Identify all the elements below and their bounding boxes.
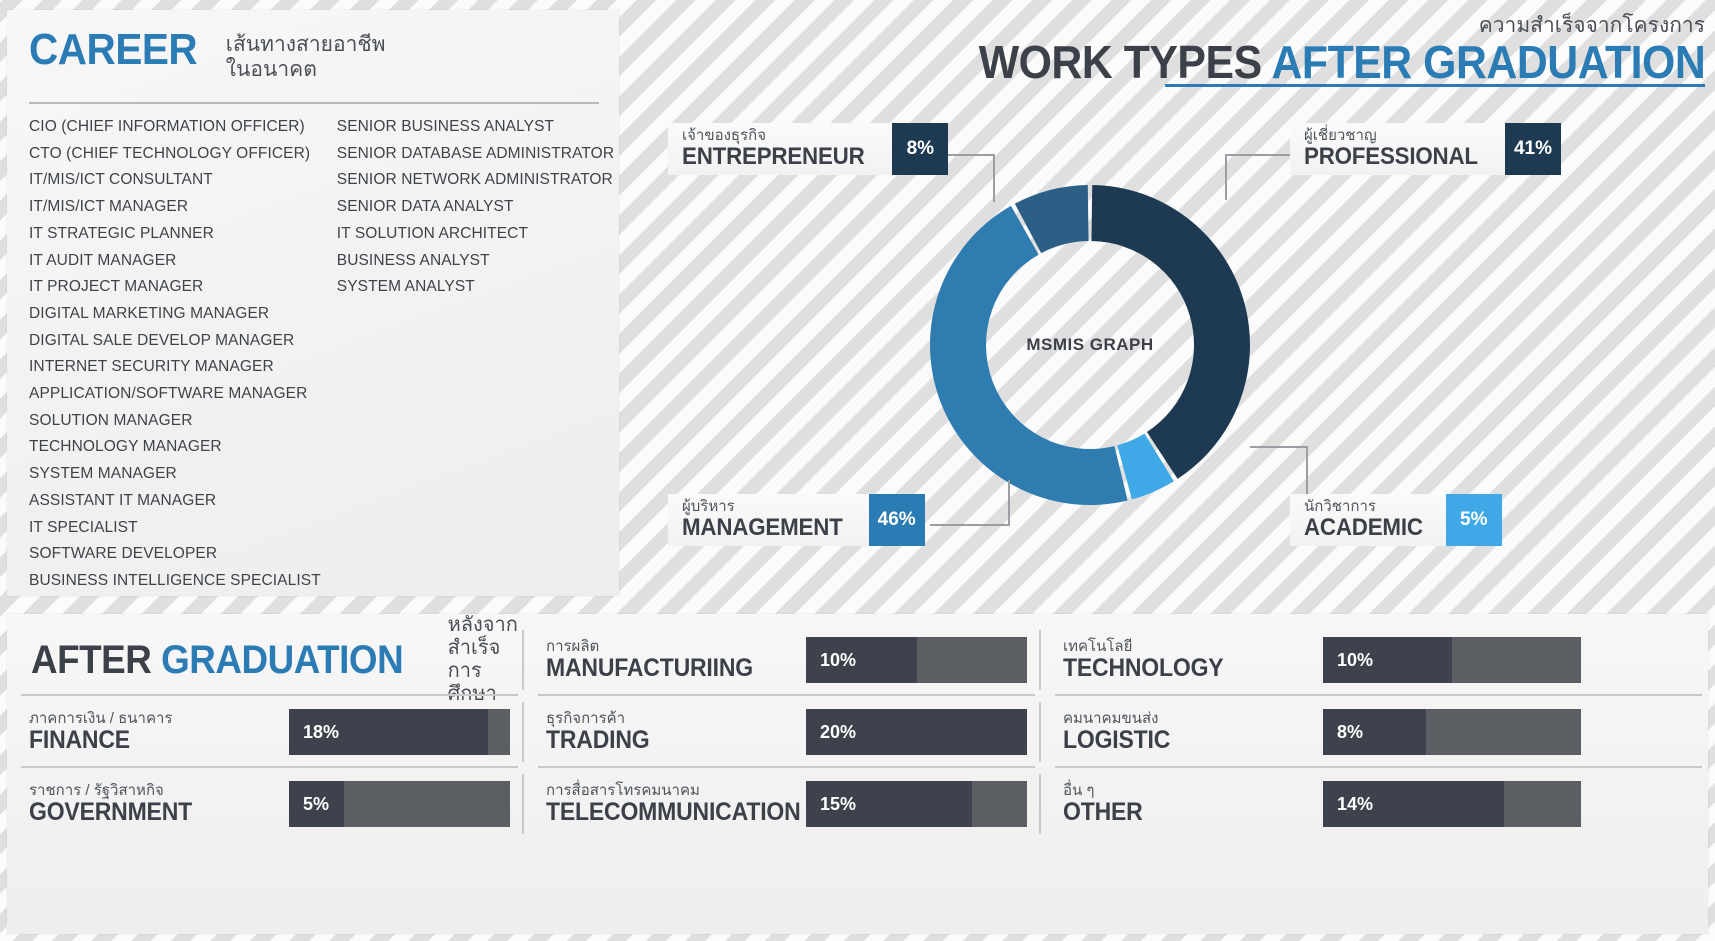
bar-row-label: ธุรกิจการค้าTRADING	[546, 710, 806, 754]
after-graduation-grid: AFTER GRADUATION หลังจากสำเร็จ การศึกษา …	[7, 614, 1708, 934]
career-list-item: SYSTEM MANAGER	[29, 461, 321, 488]
after-graduation-title-dark: AFTER	[31, 638, 151, 682]
bar-row-label-en: TRADING	[546, 727, 785, 754]
row-manufacturing[interactable]: การผลิตMANUFACTURIING10%	[524, 624, 1041, 696]
bar-track[interactable]: 10%	[806, 637, 1027, 683]
bar-value-label: 5%	[289, 794, 329, 815]
work-types-header: ความสำเร็จจากโครงการ WORK TYPES AFTER GR…	[924, 14, 1705, 86]
bar-row-label: ภาคการเงิน / ธนาคารFINANCE	[29, 710, 289, 754]
bar-value-label: 20%	[806, 722, 856, 743]
callout-academic-th: นักวิชาการ	[1304, 499, 1432, 515]
row-telecommunication[interactable]: การสื่อสารโทรคมนาคมTELECOMMUNICATION15%	[524, 768, 1041, 840]
bar-track[interactable]: 15%	[806, 781, 1027, 827]
career-columns: CIO (CHIEF INFORMATION OFFICER)CTO (CHIE…	[29, 114, 609, 595]
work-types-title-en: WORK TYPES AFTER GRADUATION	[978, 39, 1705, 86]
work-types-title-dark: WORK TYPES	[978, 36, 1261, 88]
bar-track[interactable]: 18%	[289, 709, 510, 755]
callout-professional-en: PROFESSIONAL	[1304, 144, 1478, 169]
career-list-item: BUSINESS INTELLIGENCE SPECIALIST	[29, 568, 321, 595]
bar-row-label: ราชการ / รัฐวิสาหกิจGOVERNMENT	[29, 782, 289, 826]
callout-management-th: ผู้บริหาร	[682, 499, 855, 515]
row-trading[interactable]: ธุรกิจการค้าTRADING20%	[524, 696, 1041, 768]
bar-row-label: การสื่อสารโทรคมนาคมTELECOMMUNICATION	[546, 782, 806, 826]
career-list-item: IT AUDIT MANAGER	[29, 248, 321, 275]
bar-row-label-th: ราชการ / รัฐวิสาหกิจ	[29, 782, 289, 799]
bar-track[interactable]: 5%	[289, 781, 510, 827]
bar-row-label-th: เทคโนโลยี	[1063, 638, 1323, 655]
career-list-item: CIO (CHIEF INFORMATION OFFICER)	[29, 114, 321, 141]
bar-track[interactable]: 8%	[1323, 709, 1581, 755]
after-graduation-title-th: หลังจากสำเร็จ การศึกษา	[448, 614, 524, 706]
after-graduation-title: AFTER GRADUATION	[31, 639, 403, 681]
career-column-2: SENIOR BUSINESS ANALYSTSENIOR DATABASE A…	[337, 114, 614, 595]
callout-entrepreneur-pct: 8%	[892, 123, 948, 175]
work-types-title-th: ความสำเร็จจากโครงการ	[924, 14, 1705, 38]
leader-line-management-v	[1008, 480, 1010, 526]
leader-line-academic-h	[1250, 446, 1308, 448]
bar-value-label: 10%	[806, 650, 856, 671]
career-list-item: ASSISTANT IT MANAGER	[29, 488, 321, 515]
bar-value-label: 8%	[1323, 722, 1363, 743]
bar-row-label-th: การผลิต	[546, 638, 806, 655]
career-title-th: เส้นทางสายอาชีพ ในอนาคต	[226, 32, 386, 82]
leader-line-entrepreneur-v	[993, 154, 995, 202]
after-graduation-title-cell: AFTER GRADUATION หลังจากสำเร็จ การศึกษา	[7, 624, 524, 696]
callout-management[interactable]: ผู้บริหาร MANAGEMENT 46%	[668, 494, 925, 546]
career-title-en: CAREER	[29, 28, 197, 72]
bar-row-label-en: MANUFACTURIING	[546, 655, 785, 682]
work-types-underline	[1165, 84, 1705, 87]
career-list-item: SENIOR DATA ANALYST	[337, 194, 614, 221]
bar-row-label-en: OTHER	[1063, 799, 1302, 826]
career-list-item: DIGITAL MARKETING MANAGER	[29, 301, 321, 328]
leader-line-professional-h	[1225, 154, 1295, 156]
career-list-item: IT SOLUTION ARCHITECT	[337, 221, 614, 248]
row-other[interactable]: อื่น ๆOTHER14%	[1041, 768, 1708, 840]
callout-professional-th: ผู้เชี่ยวชาญ	[1304, 128, 1491, 144]
callout-professional[interactable]: ผู้เชี่ยวชาญ PROFESSIONAL 41%	[1290, 123, 1561, 175]
work-types-donut-chart: MSMIS GRAPH	[905, 160, 1275, 530]
bar-value-label: 18%	[289, 722, 339, 743]
career-list-item: SENIOR NETWORK ADMINISTRATOR	[337, 167, 614, 194]
career-list-item: IT/MIS/ICT CONSULTANT	[29, 167, 321, 194]
bar-row-label-en: LOGISTIC	[1063, 727, 1302, 754]
bar-row-label: เทคโนโลยีTECHNOLOGY	[1063, 638, 1323, 682]
career-list-item: SENIOR BUSINESS ANALYST	[337, 114, 614, 141]
bar-row-label-en: FINANCE	[29, 727, 268, 754]
bar-row-label-th: การสื่อสารโทรคมนาคม	[546, 782, 806, 799]
work-types-title-blue: AFTER GRADUATION	[1271, 36, 1705, 88]
career-list-item: CTO (CHIEF TECHNOLOGY OFFICER)	[29, 141, 321, 168]
bar-row-label-en: TECHNOLOGY	[1063, 655, 1302, 682]
row-technology[interactable]: เทคโนโลยีTECHNOLOGY10%	[1041, 624, 1708, 696]
callout-management-en: MANAGEMENT	[682, 515, 843, 540]
callout-academic[interactable]: นักวิชาการ ACADEMIC 5%	[1290, 494, 1502, 546]
bar-row-label: การผลิตMANUFACTURIING	[546, 638, 806, 682]
callout-entrepreneur[interactable]: เจ้าของธุรกิจ ENTREPRENEUR 8%	[668, 123, 948, 175]
bar-track[interactable]: 14%	[1323, 781, 1581, 827]
bar-row-label: คมนาคมขนส่งLOGISTIC	[1063, 710, 1323, 754]
career-list-item: SYSTEM ANALYST	[337, 274, 614, 301]
row-finance[interactable]: ภาคการเงิน / ธนาคารFINANCE18%	[7, 696, 524, 768]
career-list-item: APPLICATION/SOFTWARE MANAGER	[29, 381, 321, 408]
career-list-item: IT PROJECT MANAGER	[29, 274, 321, 301]
after-graduation-title-blue: GRADUATION	[161, 638, 403, 682]
bar-row-label-th: ธุรกิจการค้า	[546, 710, 806, 727]
career-list-item: IT/MIS/ICT MANAGER	[29, 194, 321, 221]
callout-academic-en: ACADEMIC	[1304, 515, 1423, 540]
career-column-1: CIO (CHIEF INFORMATION OFFICER)CTO (CHIE…	[29, 114, 321, 595]
leader-line-management-h	[930, 524, 1010, 526]
bar-row-label-th: ภาคการเงิน / ธนาคาร	[29, 710, 289, 727]
bar-track[interactable]: 20%	[806, 709, 1027, 755]
bar-value-label: 10%	[1323, 650, 1373, 671]
after-graduation-panel: AFTER GRADUATION หลังจากสำเร็จ การศึกษา …	[7, 614, 1708, 934]
callout-entrepreneur-th: เจ้าของธุรกิจ	[682, 128, 878, 144]
row-logistic[interactable]: คมนาคมขนส่งLOGISTIC8%	[1041, 696, 1708, 768]
bar-row-label-th: คมนาคมขนส่ง	[1063, 710, 1323, 727]
callout-entrepreneur-en: ENTREPRENEUR	[682, 144, 865, 169]
career-list-item: DIGITAL SALE DEVELOP MANAGER	[29, 328, 321, 355]
career-list-item: TECHNOLOGY MANAGER	[29, 434, 321, 461]
career-list-item: SOLUTION MANAGER	[29, 408, 321, 435]
callout-professional-pct: 41%	[1505, 123, 1561, 175]
bar-row-label-en: TELECOMMUNICATION	[546, 799, 785, 826]
callout-academic-pct: 5%	[1446, 494, 1502, 546]
career-list-item: INTERNET SECURITY MANAGER	[29, 354, 321, 381]
donut-slice-professional[interactable]	[1091, 185, 1250, 479]
donut-slice-management[interactable]	[930, 206, 1128, 505]
row-government[interactable]: ราชการ / รัฐวิสาหกิจGOVERNMENT5%	[7, 768, 524, 840]
career-header: CAREER เส้นทางสายอาชีพ ในอนาคต	[29, 28, 385, 82]
bar-value-label: 14%	[1323, 794, 1373, 815]
callout-management-pct: 46%	[869, 494, 925, 546]
career-list-item: BUSINESS ANALYST	[337, 248, 614, 275]
bar-row-label: อื่น ๆOTHER	[1063, 782, 1323, 826]
bar-row-label-en: GOVERNMENT	[29, 799, 268, 826]
bar-value-label: 15%	[806, 794, 856, 815]
career-divider	[29, 102, 599, 104]
bar-track[interactable]: 10%	[1323, 637, 1581, 683]
career-list-item: SOFTWARE DEVELOPER	[29, 541, 321, 568]
career-list-item: IT SPECIALIST	[29, 515, 321, 542]
leader-line-professional-v	[1225, 154, 1227, 200]
bar-row-label-th: อื่น ๆ	[1063, 782, 1323, 799]
donut-center-label: MSMIS GRAPH	[1026, 335, 1153, 355]
career-panel: CAREER เส้นทางสายอาชีพ ในอนาคต CIO (CHIE…	[7, 10, 619, 596]
career-list-item: IT STRATEGIC PLANNER	[29, 221, 321, 248]
career-list-item: SENIOR DATABASE ADMINISTRATOR	[337, 141, 614, 168]
